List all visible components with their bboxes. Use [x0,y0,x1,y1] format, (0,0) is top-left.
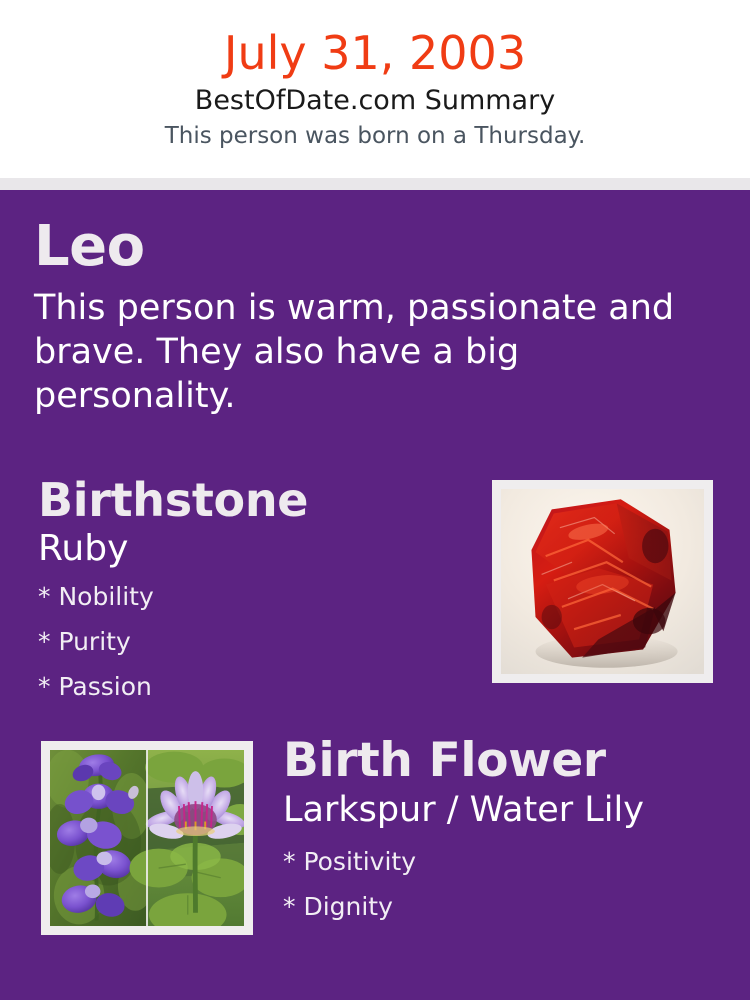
birthstone-section: Birthstone Ruby * Nobility * Purity * Pa… [38,474,468,709]
birth-flower-photo [50,750,244,926]
list-item: * Purity [38,619,468,664]
birth-day-note: This person was born on a Thursday. [0,118,750,151]
flowers-icon [50,750,244,926]
ruby-photo-frame [492,480,713,683]
header-divider [0,178,750,190]
list-item: * Nobility [38,574,468,619]
birth-flower-photo-frame [41,741,253,935]
list-item: * Passion [38,664,468,709]
larkspur-half [50,750,153,926]
list-item: * Dignity [283,884,733,929]
zodiac-sign-name: Leo [34,216,694,278]
birth-flower-heading: Birth Flower [283,735,733,787]
birth-flower-name: Larkspur / Water Lily [283,787,733,831]
ruby-photo [501,489,704,674]
page-title-date: July 31, 2003 [0,0,750,80]
birth-flower-trait-list: * Positivity * Dignity [283,831,733,929]
birthstone-heading: Birthstone [38,474,468,526]
birthstone-trait-list: * Nobility * Purity * Passion [38,570,468,709]
site-name: BestOfDate.com Summary [0,80,750,118]
header: July 31, 2003 BestOfDate.com Summary Thi… [0,0,750,178]
birthstone-name: Ruby [38,526,468,570]
list-item: * Positivity [283,839,733,884]
zodiac-section: Leo This person is warm, passionate and … [34,216,694,418]
summary-card: July 31, 2003 BestOfDate.com Summary Thi… [0,0,750,1000]
zodiac-description: This person is warm, passionate and brav… [34,278,689,418]
birth-flower-section: Birth Flower Larkspur / Water Lily * Pos… [283,735,733,929]
ruby-crystal-icon [501,489,704,674]
